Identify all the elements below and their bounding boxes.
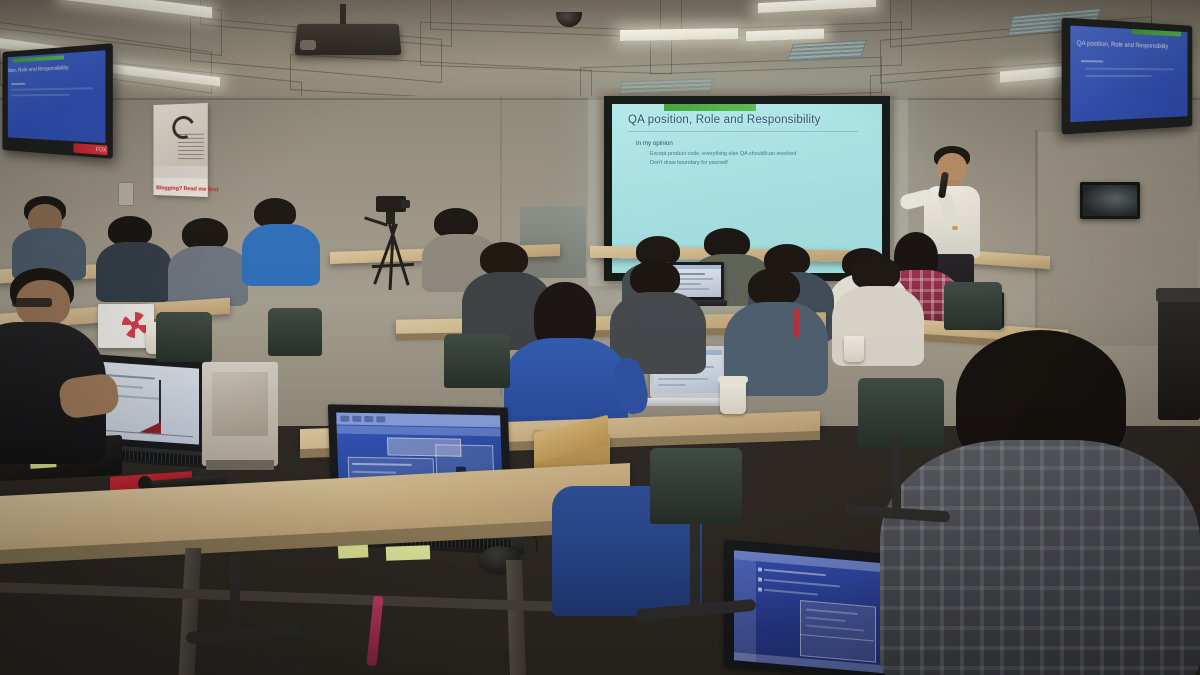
suspended-ceiling (0, 0, 1200, 104)
slide-divider (628, 131, 858, 132)
slide-bullet-1: In my opinion (636, 140, 673, 147)
wrist-watch (952, 226, 958, 230)
chair-1[interactable] (156, 312, 212, 362)
right-tv-panel: QA position, Role and Responsibility (1070, 26, 1187, 123)
desk-leg (506, 560, 526, 675)
left-wall-tv: QA position, Role and Responsibility FOX (2, 43, 112, 159)
wall-fixture (520, 206, 586, 278)
ceiling-light-panel (620, 28, 738, 41)
bag-base (206, 460, 274, 470)
slide-bullet-2: Except product code, everything else QA … (650, 151, 796, 157)
right-tv-slide-title: QA position, Role and Responsibility (1077, 41, 1168, 50)
desk-leg (179, 548, 202, 675)
eyeglasses-icon (12, 298, 52, 307)
chair-5[interactable] (858, 378, 944, 448)
desk-crossbar (0, 582, 560, 612)
tripod-video-camera (362, 196, 422, 288)
equipment-handle (1156, 288, 1200, 302)
wall-control-monitor[interactable] (1080, 182, 1140, 219)
slide-title: QA position, Role and Responsibility (628, 114, 821, 126)
chair-3[interactable] (444, 334, 510, 388)
tripod-head (386, 212, 395, 224)
paper-cup-2 (720, 380, 746, 414)
lanyard (794, 308, 800, 338)
classroom-photo: QA position, Role and Responsibility In … (0, 0, 1200, 675)
chair-column (690, 520, 700, 610)
projector-lens-icon (300, 40, 316, 50)
chair-6[interactable] (944, 282, 1002, 330)
paper-cup-3 (844, 336, 864, 362)
sticky-note (386, 545, 430, 561)
tv-brand-text: FOX (96, 147, 107, 154)
poster-body-text (178, 134, 204, 161)
slide-bullet-3: Don't draw boundary for yourself (650, 160, 728, 166)
equipment-case (1158, 300, 1200, 420)
slide-banner (664, 104, 756, 111)
right-wall-tv: QA position, Role and Responsibility (1062, 17, 1193, 134)
wall-switch-plate[interactable] (118, 182, 134, 206)
left-tv-slide-title: QA position, Role and Responsibility (8, 65, 69, 74)
projector-mount-arm (340, 4, 346, 26)
tissue-box-flower-graphic (122, 312, 148, 338)
bag-panel (212, 372, 268, 436)
chair-column (892, 438, 901, 516)
chair-4[interactable] (650, 448, 742, 524)
wall-poster: Blogging? Read me first (153, 103, 207, 197)
camera-lens-icon (401, 200, 410, 208)
pink-bottle (366, 596, 383, 667)
wall-monitor-screen (1083, 185, 1137, 216)
chair-2[interactable] (268, 308, 322, 356)
left-tv-panel: QA position, Role and Responsibility (8, 50, 106, 143)
tripod-pan-handle (364, 216, 388, 226)
chair-base (186, 624, 303, 644)
